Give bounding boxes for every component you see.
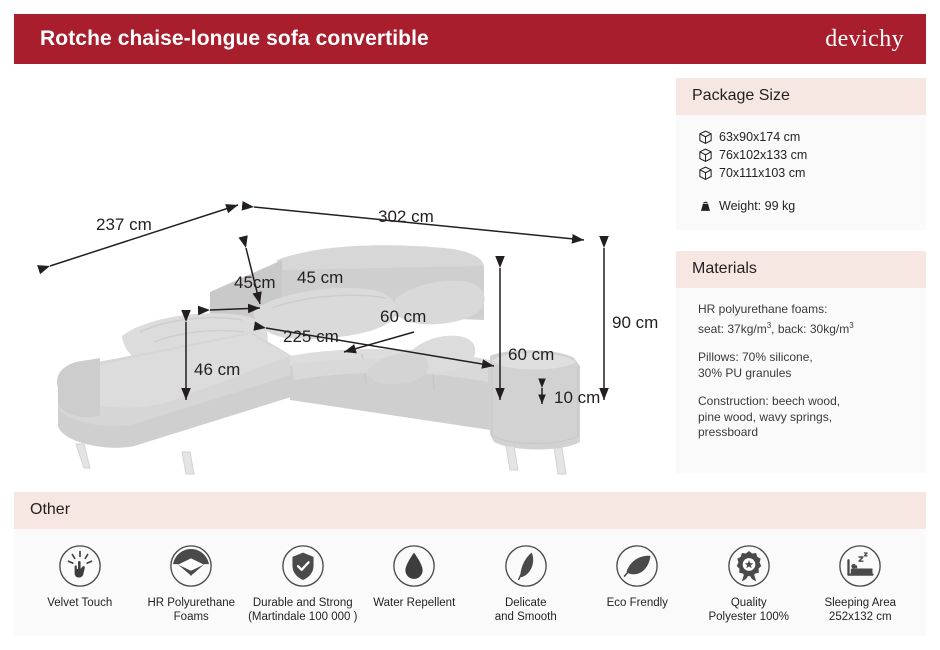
package-size-title: Package Size [692, 87, 790, 104]
dimension-label-seat-width: 225 cm [283, 327, 339, 346]
other-title: Other [30, 501, 70, 518]
feature-delicate-and-smooth: Delicate and Smooth [470, 543, 582, 624]
leaf-icon [614, 543, 660, 589]
materials-header: Materials [676, 251, 926, 288]
materials-foam-line1: HR polyurethane foams: [698, 302, 827, 316]
feature-eco-frendly: Eco Frendly [582, 543, 694, 610]
package-box-row: 76x102x133 cm [698, 147, 910, 164]
brand-logo: devichy [825, 26, 904, 53]
feature-sleeping-area: Sleeping Area 252x132 cm [805, 543, 917, 624]
dimension-label-cushion-height: 45 cm [297, 268, 343, 287]
package-box-text: 63x90x174 cm [719, 129, 800, 146]
dimension-label-chaise-height: 46 cm [194, 360, 240, 379]
feature-hr-polyurethane-foams: HR Polyurethane Foams [136, 543, 248, 624]
package-box-row: 63x90x174 cm [698, 129, 910, 146]
sofa-leg [506, 446, 518, 470]
weight-icon [698, 199, 713, 214]
materials-foam-back-sup: 3 [849, 321, 853, 330]
feature-label: Quality Polyester 100% [708, 596, 789, 624]
package-size-header: Package Size [676, 78, 926, 115]
feature-durable-and-strong: Durable and Strong (Martindale 100 000 ) [247, 543, 359, 624]
sofa-dimension-diagram: 237 cm 302 cm 45cm 45 cm 225 cm 60 cm 46… [14, 70, 669, 485]
other-panel: Other Velvet Touch [14, 492, 926, 636]
sofa-leg [554, 448, 566, 474]
box-icon [698, 148, 713, 163]
materials-foam-seat: seat: 37kg/m [698, 322, 767, 336]
materials-construction: Construction: beech wood, pine wood, wav… [698, 394, 910, 441]
package-size-panel: Package Size 63x90x174 cm 76x102x133 cm … [676, 78, 926, 230]
dimension-label-sofa-length: 302 cm [378, 207, 434, 226]
feather-icon [503, 543, 549, 589]
feature-water-repellent: Water Repellent [359, 543, 471, 610]
package-box-text: 70x111x103 cm [719, 165, 805, 182]
materials-foam-back: , back: 30kg/m [771, 322, 849, 336]
feature-label: Water Repellent [373, 596, 455, 610]
feature-label: Sleeping Area 252x132 cm [824, 596, 896, 624]
box-icon [698, 130, 713, 145]
package-box-text: 76x102x133 cm [719, 147, 807, 164]
touch-hand-icon [57, 543, 103, 589]
dimension-label-seat-depth: 60 cm [380, 307, 426, 326]
feature-label: Delicate and Smooth [495, 596, 557, 624]
dimension-label-arm-height: 60 cm [508, 345, 554, 364]
feature-quality-polyester: Quality Polyester 100% [693, 543, 805, 624]
package-size-body: 63x90x174 cm 76x102x133 cm 70x111x103 cm… [676, 115, 926, 228]
feature-label: HR Polyurethane Foams [147, 596, 235, 624]
feature-velvet-touch: Velvet Touch [24, 543, 136, 610]
other-features-row: Velvet Touch HR Polyurethane Foams Durab… [14, 529, 926, 624]
sofa-leg [76, 444, 90, 468]
shield-check-icon [280, 543, 326, 589]
feature-label: Velvet Touch [47, 596, 112, 610]
materials-foam: HR polyurethane foams: seat: 37kg/m3, ba… [698, 302, 910, 337]
page-title: Rotche chaise-longue sofa convertible [40, 27, 429, 51]
materials-panel: Materials HR polyurethane foams: seat: 3… [676, 251, 926, 473]
water-drop-icon [391, 543, 437, 589]
package-weight-row: Weight: 99 kg [698, 198, 910, 215]
dimension-label-chaise-length: 237 cm [96, 215, 152, 234]
dimension-label-overall-height: 90 cm [612, 313, 658, 332]
dimension-label-leg-height: 10 cm [554, 388, 600, 407]
header-bar: Rotche chaise-longue sofa convertible de… [14, 14, 926, 64]
materials-pillows: Pillows: 70% silicone, 30% PU granules [698, 350, 910, 381]
feature-label: Eco Frendly [607, 596, 668, 610]
package-weight-text: Weight: 99 kg [719, 198, 795, 215]
materials-body: HR polyurethane foams: seat: 37kg/m3, ba… [676, 288, 926, 453]
foam-block-icon [168, 543, 214, 589]
package-box-row: 70x111x103 cm [698, 165, 910, 182]
award-rosette-icon [726, 543, 772, 589]
sofa-leg [182, 452, 194, 474]
materials-title: Materials [692, 260, 757, 277]
bed-sleep-icon [837, 543, 883, 589]
box-icon [698, 166, 713, 181]
dimension-label-seat-back-height: 45cm [234, 273, 276, 292]
feature-label: Durable and Strong (Martindale 100 000 ) [248, 596, 357, 624]
other-header: Other [14, 492, 926, 529]
